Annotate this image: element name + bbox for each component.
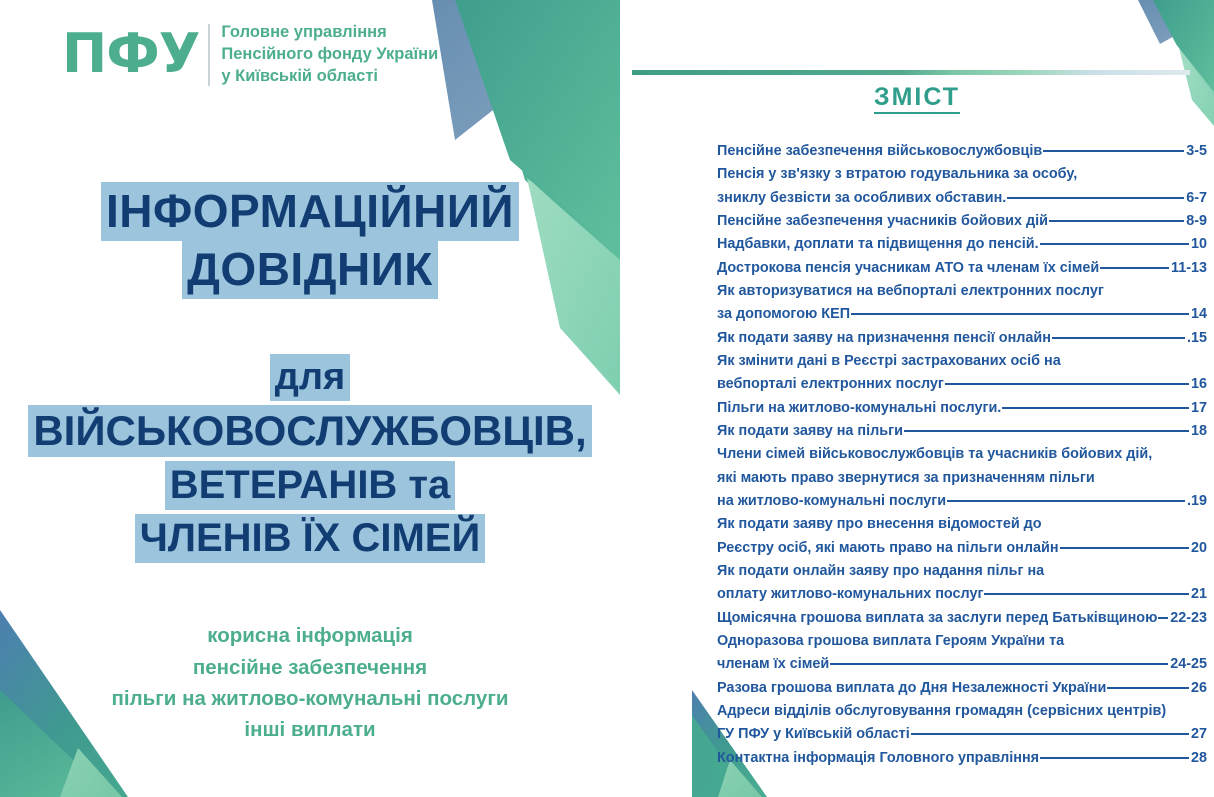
toc-entry-label: Разова грошова виплата до Дня Незалежнос… xyxy=(717,677,1106,700)
toc-entry[interactable]: Як подати заяву про внесення відомостей … xyxy=(717,513,1207,536)
toc-leader-line xyxy=(1043,149,1184,152)
toc-entry-label: Як змінити дані в Реєстрі застрахованих … xyxy=(717,353,1061,369)
toc-entry-page: 28 xyxy=(1190,747,1207,770)
toc-entry[interactable]: Як подати заяву на пільги18 xyxy=(717,420,1207,443)
toc-entry-page: .15 xyxy=(1186,327,1207,350)
toc-entry-label: Як подати онлайн заяву про надання пільг… xyxy=(717,563,1044,579)
logo-line-2: Пенсійного фонду України xyxy=(221,44,438,66)
toc-heading-text: ЗМІСТ xyxy=(874,83,960,114)
logo-line-3: у Київській області xyxy=(221,66,438,88)
cover-footer-line-4: інші виплати xyxy=(0,714,620,745)
logo-divider xyxy=(208,24,210,86)
toc-leader-line xyxy=(830,662,1168,665)
toc-entry-page: 21 xyxy=(1190,583,1207,606)
toc-entry-label: Адреси відділів обслуговування громадян … xyxy=(717,703,1166,719)
toc-entry-label: Пенсійне забезпечення військовослужбовці… xyxy=(717,140,1042,163)
toc-divider-bar xyxy=(632,70,1190,75)
toc-list: Пенсійне забезпечення військовослужбовці… xyxy=(717,140,1207,770)
toc-entry[interactable]: Як подати онлайн заяву про надання пільг… xyxy=(717,560,1207,583)
toc-leader-line xyxy=(1107,686,1189,689)
cover-subtitle-line-3: ВЕТЕРАНІВ та xyxy=(0,461,620,509)
toc-entry-page: 14 xyxy=(1190,303,1207,326)
toc-entry-page: 10 xyxy=(1190,233,1207,256)
cover-page: ПФУ Головне управління Пенсійного фонду … xyxy=(0,0,620,797)
toc-entry-label: Як подати заяву на призначення пенсії он… xyxy=(717,327,1051,350)
toc-entry[interactable]: Як змінити дані в Реєстрі застрахованих … xyxy=(717,350,1207,373)
toc-leader-line xyxy=(1100,266,1169,269)
toc-entry[interactable]: Як авторизуватися на вебпорталі електрон… xyxy=(717,280,1207,303)
toc-entry[interactable]: Щомісячна грошова виплата за заслуги пер… xyxy=(717,607,1207,630)
cover-footer-line-2: пенсійне забезпечення xyxy=(0,652,620,683)
toc-entry-label: вебпорталі електронних послуг xyxy=(717,373,944,396)
toc-entry[interactable]: Пенсійне забезпечення військовослужбовці… xyxy=(717,140,1207,163)
toc-entry-label: Пільги на житлово-комунальні послуги. xyxy=(717,397,1001,420)
cover-title-line-1: ІНФОРМАЦІЙНИЙ xyxy=(0,185,620,237)
toc-entry-label: Контактна інформація Головного управлінн… xyxy=(717,747,1039,770)
toc-entry-label: які мають право звернутися за призначенн… xyxy=(717,470,1095,486)
toc-entry-label: Члени сімей військовослужбовців та учасн… xyxy=(717,446,1152,462)
toc-leader-line xyxy=(904,429,1189,432)
toc-entry-label: зниклу безвісти за особливих обставин. xyxy=(717,187,1006,210)
toc-entry-page: 16 xyxy=(1190,373,1207,396)
toc-entry-label: Реєстру осіб, які мають право на пільги … xyxy=(717,537,1059,560)
toc-entry-page: .19 xyxy=(1186,490,1207,513)
cover-footer: корисна інформація пенсійне забезпечення… xyxy=(0,620,620,745)
logo-line-1: Головне управління xyxy=(221,22,438,44)
toc-entry[interactable]: Дострокова пенсія учасникам АТО та члена… xyxy=(717,257,1207,280)
toc-leader-line xyxy=(1060,546,1189,549)
toc-entry[interactable]: Разова грошова виплата до Дня Незалежнос… xyxy=(717,677,1207,700)
toc-entry-label: на житлово-комунальні послуги xyxy=(717,490,946,513)
toc-leader-line xyxy=(1040,242,1189,245)
toc-entry-label: Одноразова грошова виплата Героям Україн… xyxy=(717,633,1064,649)
toc-leader-line xyxy=(984,592,1189,595)
toc-entry[interactable]: Надбавки, доплати та підвищення до пенсі… xyxy=(717,233,1207,256)
toc-entry[interactable]: Пенсія у зв'язку з втратою годувальника … xyxy=(717,163,1207,186)
toc-entry-label: оплату житлово-комунальних послуг xyxy=(717,583,983,606)
toc-entry[interactable]: за допомогою КЕП14 xyxy=(717,303,1207,326)
toc-entry[interactable]: Контактна інформація Головного управлінн… xyxy=(717,747,1207,770)
toc-leader-line xyxy=(1040,756,1189,759)
toc-entry-page: 3-5 xyxy=(1185,140,1207,163)
toc-entry[interactable]: ГУ ПФУ у Київській області27 xyxy=(717,723,1207,746)
logo-left: ПФУ Головне управління Пенсійного фонду … xyxy=(62,22,438,87)
toc-entry-page: 22-23 xyxy=(1169,607,1207,630)
toc-entry-page: 24-25 xyxy=(1169,653,1207,676)
cover-content: ІНФОРМАЦІЙНИЙ ДОВІДНИК для ВІЙСЬКОВОСЛУЖ… xyxy=(0,0,620,797)
toc-leader-line xyxy=(1007,196,1184,199)
toc-entry[interactable]: вебпорталі електронних послуг16 xyxy=(717,373,1207,396)
toc-page: ПФУ Головне управління Пенсійного фонду … xyxy=(620,0,1214,797)
toc-leader-line xyxy=(947,499,1185,502)
toc-entry-page: 20 xyxy=(1190,537,1207,560)
brochure-spread: ПФУ Головне управління Пенсійного фонду … xyxy=(0,0,1214,797)
toc-entry-page: 11-13 xyxy=(1170,257,1207,280)
toc-entry[interactable]: Пільги на житлово-комунальні послуги.17 xyxy=(717,397,1207,420)
toc-entry-label: Як подати заяву про внесення відомостей … xyxy=(717,516,1042,532)
cover-footer-line-1: корисна інформація xyxy=(0,620,620,651)
toc-entry-label: за допомогою КЕП xyxy=(717,303,850,326)
toc-leader-line xyxy=(851,312,1189,315)
toc-leader-line xyxy=(1049,219,1184,222)
toc-entry-page: 6-7 xyxy=(1185,187,1207,210)
cover-title-line-2: ДОВІДНИК xyxy=(0,243,620,295)
toc-entry[interactable]: членам їх сімей24-25 xyxy=(717,653,1207,676)
toc-entry[interactable]: зниклу безвісти за особливих обставин.6-… xyxy=(717,187,1207,210)
toc-entry-page: 26 xyxy=(1190,677,1207,700)
toc-entry[interactable]: які мають право звернутися за призначенн… xyxy=(717,467,1207,490)
toc-entry[interactable]: Як подати заяву на призначення пенсії он… xyxy=(717,327,1207,350)
cover-subtitle-line-4: ЧЛЕНІВ ЇХ СІМЕЙ xyxy=(0,514,620,562)
toc-entry[interactable]: Члени сімей військовослужбовців та учасн… xyxy=(717,443,1207,466)
toc-entry-page: 17 xyxy=(1190,397,1207,420)
toc-entry-label: Надбавки, доплати та підвищення до пенсі… xyxy=(717,233,1039,256)
toc-entry-label: Як подати заяву на пільги xyxy=(717,420,903,443)
toc-content: ЗМІСТ Пенсійне забезпечення військовослу… xyxy=(620,0,1214,797)
toc-entry-label: ГУ ПФУ у Київській області xyxy=(717,723,910,746)
cover-subtitle-line-2: ВІЙСЬКОВОСЛУЖБОВЦІВ, xyxy=(0,406,620,456)
toc-entry[interactable]: на житлово-комунальні послуги.19 xyxy=(717,490,1207,513)
toc-entry-label: членам їх сімей xyxy=(717,653,829,676)
toc-leader-line xyxy=(1158,616,1168,619)
toc-entry[interactable]: Пенсійне забезпечення учасників бойових … xyxy=(717,210,1207,233)
toc-entry-label: Пенсійне забезпечення учасників бойових … xyxy=(717,210,1048,233)
toc-entry-page: 18 xyxy=(1190,420,1207,443)
logo-text-left: Головне управління Пенсійного фонду Укра… xyxy=(221,22,438,87)
toc-leader-line xyxy=(1052,336,1185,339)
toc-leader-line xyxy=(945,382,1189,385)
pfu-logo-mark: ПФУ xyxy=(62,30,199,79)
cover-title: ІНФОРМАЦІЙНИЙ ДОВІДНИК xyxy=(0,185,620,302)
toc-entry-label: Дострокова пенсія учасникам АТО та члена… xyxy=(717,257,1099,280)
toc-entry[interactable]: Одноразова грошова виплата Героям Україн… xyxy=(717,630,1207,653)
toc-heading: ЗМІСТ xyxy=(620,83,1214,112)
toc-entry-page: 8-9 xyxy=(1185,210,1207,233)
toc-entry[interactable]: Реєстру осіб, які мають право на пільги … xyxy=(717,537,1207,560)
toc-entry-page: 27 xyxy=(1190,723,1207,746)
toc-leader-line xyxy=(1002,406,1189,409)
toc-entry-label: Як авторизуватися на вебпорталі електрон… xyxy=(717,283,1104,299)
toc-leader-line xyxy=(911,732,1189,735)
cover-subtitle: для ВІЙСЬКОВОСЛУЖБОВЦІВ, ВЕТЕРАНІВ та ЧЛ… xyxy=(0,355,620,567)
cover-subtitle-line-1: для xyxy=(0,355,620,401)
toc-entry-label: Пенсія у зв'язку з втратою годувальника … xyxy=(717,166,1077,182)
cover-footer-line-3: пільги на житлово-комунальні послуги xyxy=(0,683,620,714)
toc-entry-label: Щомісячна грошова виплата за заслуги пер… xyxy=(717,607,1157,630)
toc-entry[interactable]: оплату житлово-комунальних послуг21 xyxy=(717,583,1207,606)
toc-entry[interactable]: Адреси відділів обслуговування громадян … xyxy=(717,700,1207,723)
